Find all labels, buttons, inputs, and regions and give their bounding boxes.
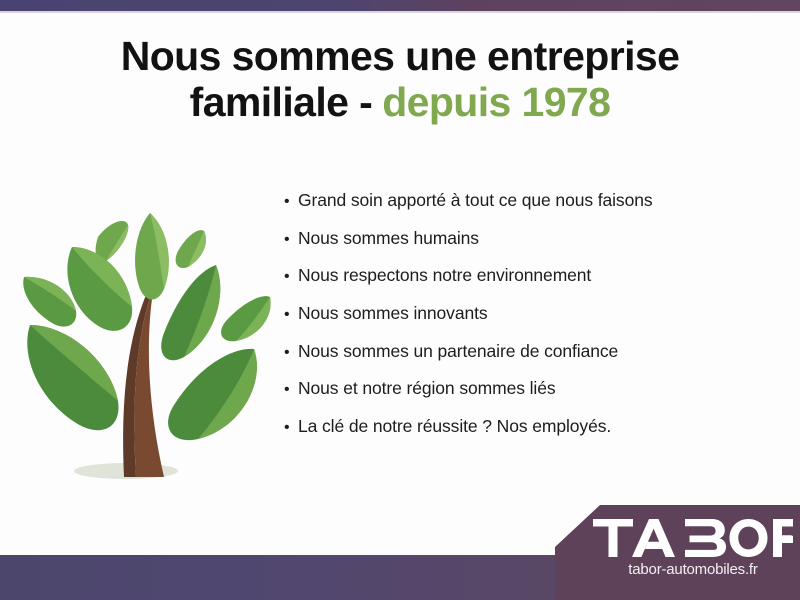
bullet-marker-icon: • [284, 194, 298, 210]
bullet-marker-icon: • [284, 345, 298, 361]
tree-illustration [18, 185, 283, 495]
leaf-mid-right [161, 265, 220, 360]
title-line-2-plain: familiale - [190, 79, 373, 125]
leaf-top-left [96, 221, 129, 262]
leaf-right-slim [221, 296, 271, 341]
list-item: • Nous sommes un partenaire de confiance [284, 341, 784, 361]
bullet-marker-icon: • [284, 382, 298, 398]
brand-logo-panel: tabor-automobiles.fr [555, 505, 800, 600]
title-line-2: familiale -depuis 1978 [0, 80, 800, 126]
list-item: • Nous sommes humains [284, 228, 784, 248]
leaf-top-center [135, 213, 169, 300]
tabor-wordmark-logo [593, 519, 793, 557]
title-line-2-accent: depuis 1978 [382, 79, 610, 125]
list-item-label: Nous et notre région sommes liés [298, 378, 555, 398]
leaf-lower-right [168, 349, 257, 440]
leaf-mid-left [67, 247, 132, 331]
leaf-lower-left [27, 325, 118, 430]
bullet-list: • Grand soin apporté à tout ce que nous … [284, 190, 784, 453]
list-item-label: Nous respectons notre environnement [298, 265, 591, 285]
leaf-top-right [176, 230, 206, 268]
list-item-label: Nous sommes un partenaire de confiance [298, 341, 618, 361]
list-item-label: Nous sommes innovants [298, 303, 488, 323]
slide-root: Nous sommes une entreprise familiale -de… [0, 0, 800, 600]
list-item: • Nous sommes innovants [284, 303, 784, 323]
list-item-label: La clé de notre réussite ? Nos employés. [298, 416, 611, 436]
list-item: • Grand soin apporté à tout ce que nous … [284, 190, 784, 210]
list-item: • Nous et notre région sommes liés [284, 378, 784, 398]
list-item-label: Grand soin apporté à tout ce que nous fa… [298, 190, 653, 210]
leaf-left-slim [23, 277, 76, 327]
page-title: Nous sommes une entreprise familiale -de… [0, 34, 800, 126]
list-item-label: Nous sommes humains [298, 228, 479, 248]
list-item: • Nous respectons notre environnement [284, 265, 784, 285]
title-line-1: Nous sommes une entreprise [0, 34, 800, 80]
brand-website-label: tabor-automobiles.fr [593, 561, 793, 578]
top-accent-bar [0, 0, 800, 11]
bullet-marker-icon: • [284, 307, 298, 323]
bullet-marker-icon: • [284, 420, 298, 436]
bullet-marker-icon: • [284, 269, 298, 285]
top-accent-hairline [0, 11, 800, 13]
bullet-marker-icon: • [284, 232, 298, 248]
list-item: • La clé de notre réussite ? Nos employé… [284, 416, 784, 436]
